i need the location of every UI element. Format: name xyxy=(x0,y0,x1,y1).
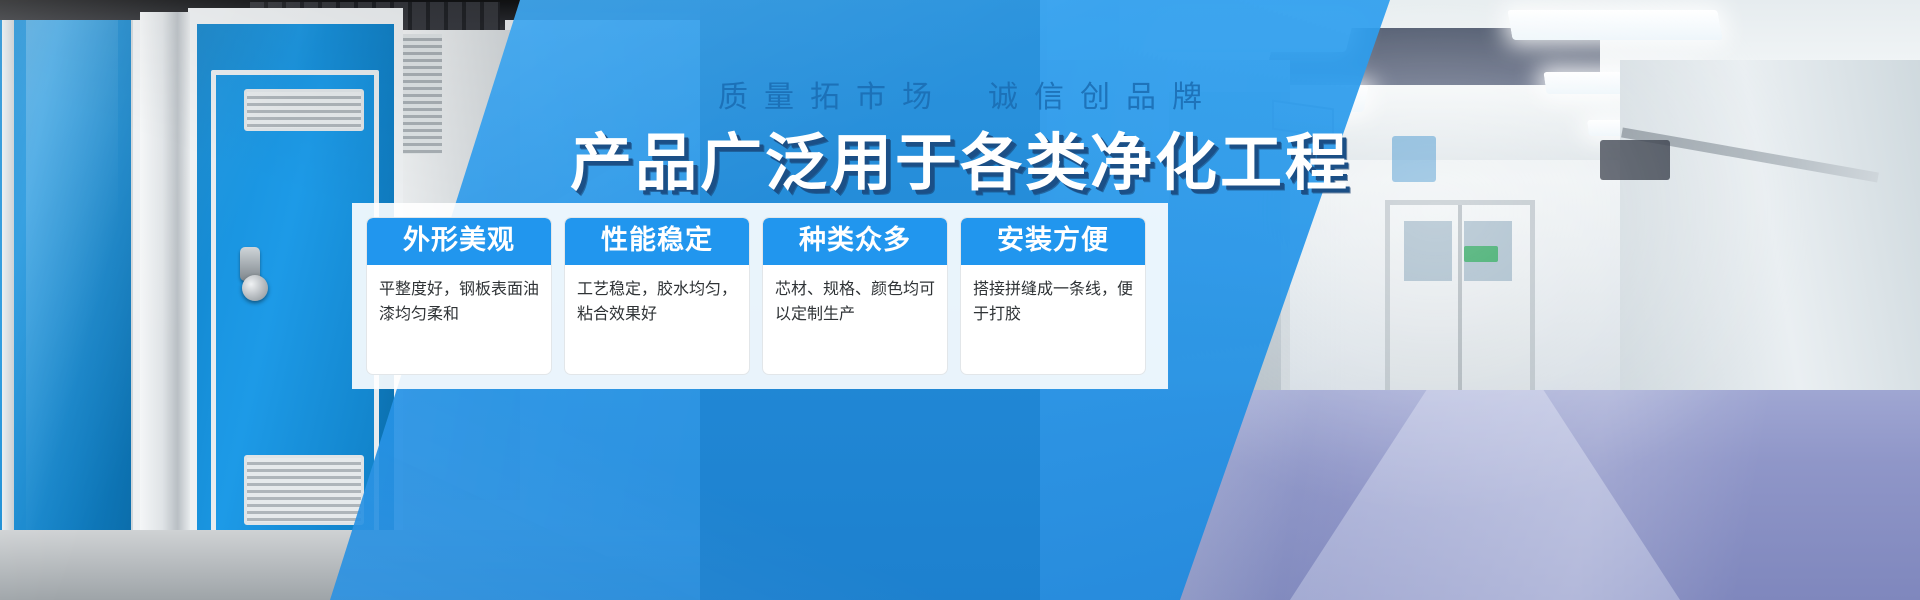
promo-banner: 质量拓市场诚信创品牌 产品广泛用于各类净化工程 外形美观 平整度好，钢板表面油漆… xyxy=(0,0,1920,600)
feature-card-title: 性能稳定 xyxy=(565,218,749,265)
feature-card-body: 搭接拼缝成一条线，便于打胶 xyxy=(961,265,1145,374)
tagline-left-text: 质量拓市场 xyxy=(718,80,948,115)
feature-card[interactable]: 种类众多 芯材、规格、颜色均可以定制生产 xyxy=(762,217,948,375)
feature-cards-panel: 外形美观 平整度好，钢板表面油漆均匀柔和 性能稳定 工艺稳定，胶水均匀，粘合效果… xyxy=(352,203,1168,389)
feature-card[interactable]: 外形美观 平整度好，钢板表面油漆均匀柔和 xyxy=(366,217,552,375)
tagline-right-text: 诚信创品牌 xyxy=(988,80,1218,115)
banner-headline: 产品广泛用于各类净化工程 xyxy=(0,112,1920,202)
feature-card-body: 芯材、规格、颜色均可以定制生产 xyxy=(763,265,947,374)
banner-tagline: 质量拓市场诚信创品牌 xyxy=(0,72,1920,116)
feature-card[interactable]: 安装方便 搭接拼缝成一条线，便于打胶 xyxy=(960,217,1146,375)
feature-card-body: 平整度好，钢板表面油漆均匀柔和 xyxy=(367,265,551,374)
feature-card[interactable]: 性能稳定 工艺稳定，胶水均匀，粘合效果好 xyxy=(564,217,750,375)
feature-card-title: 种类众多 xyxy=(763,218,947,265)
feature-card-body: 工艺稳定，胶水均匀，粘合效果好 xyxy=(565,265,749,374)
feature-card-title: 外形美观 xyxy=(367,218,551,265)
feature-card-title: 安装方便 xyxy=(961,218,1145,265)
